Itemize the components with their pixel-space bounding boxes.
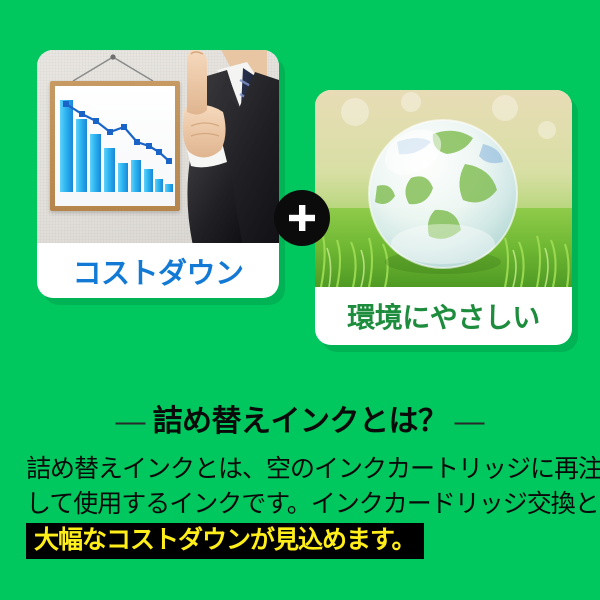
headline-rule-left: — <box>109 405 153 438</box>
body-line-1: 詰め替えインクとは、空のインクカートリッジに再注入 <box>26 452 586 487</box>
glass-globe-on-grass-illustration <box>315 90 572 287</box>
headline-rule-right: — <box>448 405 492 438</box>
highlighted-savings-text: 大幅なコストダウンが見込めます。 <box>26 523 424 559</box>
body-line-3: 大幅なコストダウンが見込めます。 <box>26 523 586 558</box>
feature-card-eco-friendly: 環境にやさしい <box>315 90 572 345</box>
cost-down-photo <box>37 50 279 243</box>
headline-text: 詰め替えインクとは？ <box>153 405 448 438</box>
plus-badge <box>274 190 330 246</box>
section-headline: —詰め替えインクとは？— <box>0 396 600 440</box>
card-caption-cost-down: コストダウン <box>37 243 279 298</box>
body-copy: 詰め替えインクとは、空のインクカートリッジに再注入 して使用するインクです。イン… <box>26 452 586 558</box>
businessman-pointing-illustration <box>147 50 279 243</box>
card-caption-eco-friendly: 環境にやさしい <box>315 287 572 345</box>
eco-friendly-photo <box>315 90 572 287</box>
feature-card-cost-down: コストダウン <box>37 50 279 298</box>
body-line-2: して使用するインクです。インクカードリッジ交換と比べ <box>26 487 586 522</box>
infographic-root: コストダウン <box>0 0 600 600</box>
plus-icon <box>287 203 317 233</box>
